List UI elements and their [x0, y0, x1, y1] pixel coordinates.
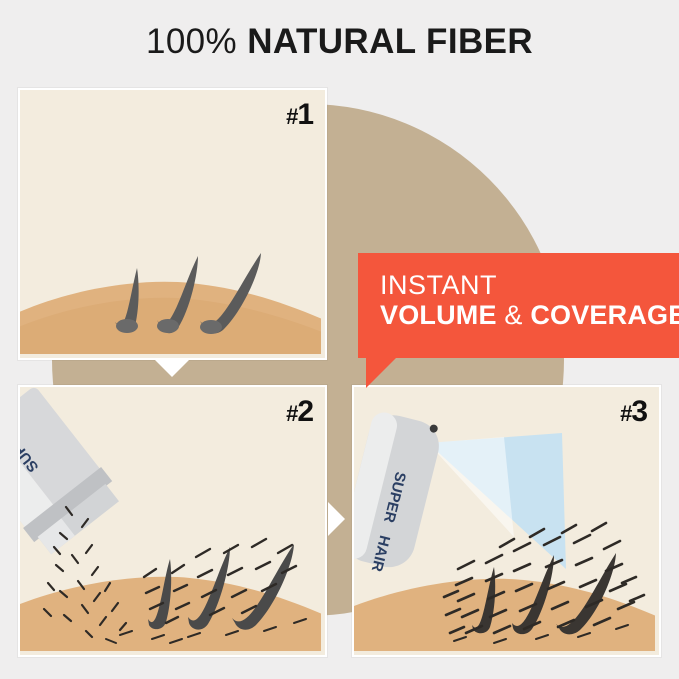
spray-cone-highlight [428, 437, 514, 537]
page-title-percent: 100% [146, 22, 237, 61]
step-panel-3: SUPER HAIR [352, 385, 661, 657]
panel-1-number: #1 [286, 98, 313, 132]
page-title: 100% NATURAL FIBER [0, 22, 679, 62]
panel-3-index: 3 [631, 395, 647, 428]
panel-3-number: #3 [620, 395, 647, 429]
arrow-down-icon [155, 360, 189, 377]
panel-2-index: 2 [297, 395, 313, 428]
infographic-root: 100% NATURAL FIBER #1 [0, 0, 679, 679]
panel-2-illustration: SUPER MILLION HAIR [20, 387, 321, 651]
fiber-bottle: SUPER MILLION HAIR [20, 387, 124, 558]
callout-volume: VOLUME [380, 300, 497, 330]
callout-line-2: VOLUME & COVERAGE [380, 299, 679, 333]
callout-ampersand: & [504, 300, 522, 330]
panel-2-hash: # [286, 401, 297, 426]
callout-banner: INSTANT VOLUME & COVERAGE [358, 253, 679, 358]
callout-line-1: INSTANT [380, 271, 679, 299]
panel-3-hash: # [620, 401, 631, 426]
callout-tail [366, 358, 396, 388]
panel-1-illustration [20, 90, 321, 354]
panel-1-index: 1 [297, 98, 313, 131]
page-title-rest: NATURAL FIBER [247, 22, 533, 61]
panel-1-hash: # [286, 104, 297, 129]
step-panel-2: SUPER MILLION HAIR [18, 385, 327, 657]
arrow-right-icon [328, 502, 345, 536]
panel-3-illustration: SUPER HAIR [354, 387, 655, 651]
panel-2-number: #2 [286, 395, 313, 429]
callout-coverage: COVERAGE [530, 300, 679, 330]
step-panel-1: #1 [18, 88, 327, 360]
spray-bottle: SUPER HAIR [354, 410, 444, 579]
